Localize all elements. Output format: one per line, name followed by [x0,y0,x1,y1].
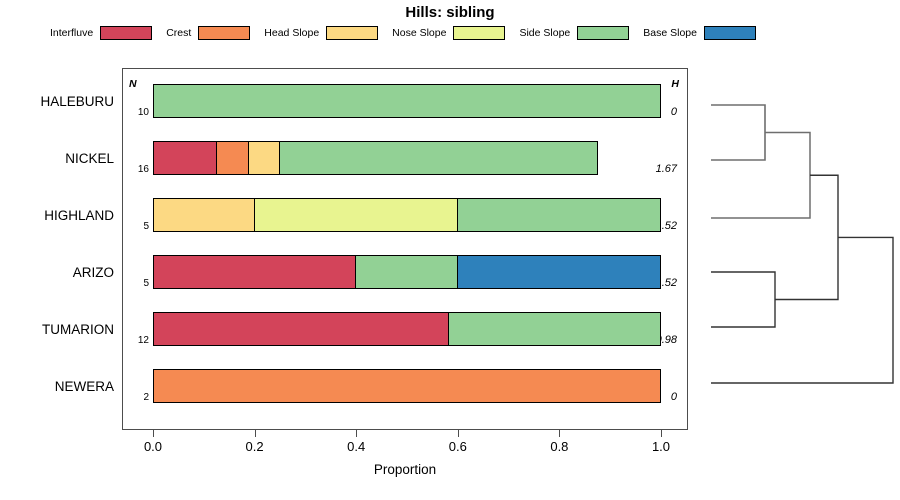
stacked-bar-nickel[interactable] [153,141,598,175]
bar-segment-side-slope [280,142,596,174]
legend-item: Side Slope [519,26,629,40]
bar-segment-crest [154,370,660,402]
legend-swatch [704,26,756,40]
legend-item: Head Slope [264,26,378,40]
y-axis-label-arizo: ARIZO [4,265,114,280]
legend-label: Side Slope [519,27,570,39]
x-tick-label: 0.6 [438,439,478,454]
y-axis-label-tumarion: TUMARION [4,322,114,337]
chart-title: Hills: sibling [0,4,900,21]
y-axis-label-nickel: NICKEL [4,151,114,166]
x-tick [255,430,256,437]
x-tick [559,430,560,437]
x-tick-label: 0.4 [336,439,376,454]
bar-segment-crest [217,142,249,174]
dendrogram-link-node2-node3 [775,175,838,299]
n-value: 12 [123,335,149,346]
bar-segment-side-slope [154,85,660,117]
x-tick [153,430,154,437]
dendrogram-link-node4-newera [711,237,893,383]
h-value: 0 [671,391,677,403]
bar-segment-base-slope [458,256,660,288]
bar-segment-nose-slope [255,199,457,231]
stacked-bar-tumarion[interactable] [153,312,661,346]
x-tick-label: 0.0 [133,439,173,454]
legend-item: Base Slope [643,26,756,40]
stacked-bar-newera[interactable] [153,369,661,403]
legend-swatch [100,26,152,40]
legend-swatch [577,26,629,40]
stacked-bar-arizo[interactable] [153,255,661,289]
x-tick-label: 0.2 [235,439,275,454]
bar-segment-side-slope [449,313,660,345]
y-axis-label-highland: HIGHLAND [4,208,114,223]
x-tick [356,430,357,437]
legend-label: Nose Slope [392,27,446,39]
x-axis-title: Proportion [122,462,688,477]
n-value: 10 [123,107,149,118]
dendrogram-link-arizo-tumarion [711,272,775,327]
y-axis-label-haleburu: HALEBURU [4,94,114,109]
dendrogram-link-node1-highland [711,133,810,219]
x-tick [458,430,459,437]
legend-label: Interfluve [50,27,93,39]
legend-swatch [198,26,250,40]
h-column-header: H [671,78,679,90]
x-tick-label: 1.0 [641,439,681,454]
bar-segment-head-slope [249,142,281,174]
stacked-bar-highland[interactable] [153,198,661,232]
legend-label: Head Slope [264,27,319,39]
legend: Interfluve Crest Head Slope Nose Slope S… [50,26,770,40]
plot-panel: N H 10 16 5 5 12 2 0 1.67 1.52 1.52 0.98… [122,68,688,430]
bar-segment-interfluve [154,142,217,174]
n-value: 2 [123,392,149,403]
bar-segment-side-slope [458,199,660,231]
legend-label: Base Slope [643,27,697,39]
legend-label: Crest [166,27,191,39]
h-value: 0 [671,106,677,118]
legend-item: Crest [166,26,250,40]
n-value: 5 [123,221,149,232]
dendrogram [690,60,900,440]
h-value: 1.67 [656,163,677,175]
bar-segment-interfluve [154,256,356,288]
n-value: 16 [123,164,149,175]
bar-segment-side-slope [356,256,457,288]
chart-figure: Hills: sibling Interfluve Crest Head Slo… [0,0,900,500]
legend-item: Interfluve [50,26,152,40]
n-column-header: N [129,78,137,90]
x-tick [661,430,662,437]
bar-segment-interfluve [154,313,449,345]
legend-item: Nose Slope [392,26,505,40]
dendrogram-svg [690,60,900,440]
legend-swatch [326,26,378,40]
legend-swatch [453,26,505,40]
n-value: 5 [123,278,149,289]
dendrogram-link-haleburu-nickel [711,105,765,160]
y-axis-label-newera: NEWERA [4,379,114,394]
x-tick-label: 0.8 [539,439,579,454]
bar-segment-head-slope [154,199,255,231]
y-axis-labels: HALEBURU NICKEL HIGHLAND ARIZO TUMARION … [0,68,114,430]
stacked-bar-haleburu[interactable] [153,84,661,118]
